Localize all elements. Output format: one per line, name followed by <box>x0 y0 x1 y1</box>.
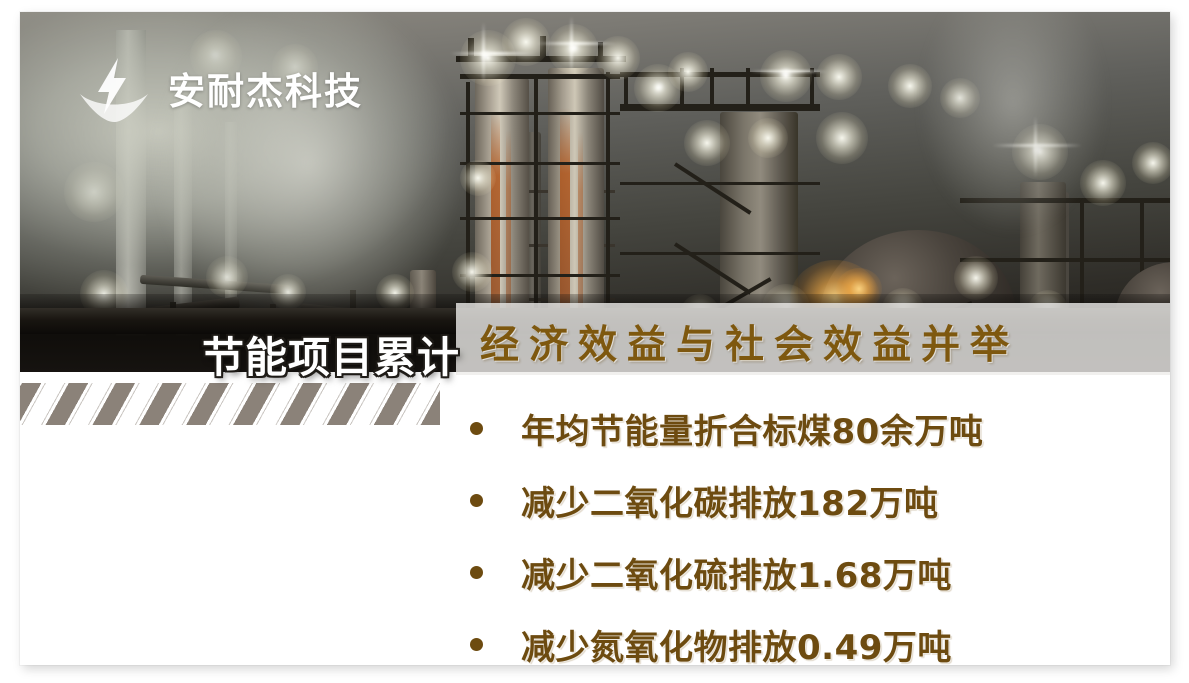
bullet-dot-icon <box>470 494 483 507</box>
bullet-text: 减少氮氧化物排放0.49万吨 <box>521 620 952 666</box>
headline-title: 经济效益与社会效益并举 <box>480 314 1170 370</box>
photo-plume-right <box>870 12 1130 282</box>
list-item: 年均节能量折合标煤80余万吨 <box>456 392 1170 464</box>
bullet-text: 减少二氧化碳排放182万吨 <box>521 476 938 525</box>
list-item: 减少氮氧化物排放0.49万吨 <box>456 608 1170 665</box>
list-item: 减少二氧化碳排放182万吨 <box>456 464 1170 536</box>
slide-canvas: 安耐杰科技 节能项目累计 经济效益与社会效益并举 年均节能量折合标煤80余万吨 … <box>20 12 1170 665</box>
brand-name: 安耐杰科技 <box>168 61 363 115</box>
bullet-dot-icon <box>470 566 483 579</box>
page-root: 安耐杰科技 节能项目累计 经济效益与社会效益并举 年均节能量折合标煤80余万吨 … <box>0 0 1189 683</box>
lightning-bolt-chevron-icon <box>78 52 150 124</box>
list-item: 减少二氧化硫排放1.68万吨 <box>456 536 1170 608</box>
bullet-dot-icon <box>470 638 483 651</box>
bullet-list: 年均节能量折合标煤80余万吨 减少二氧化碳排放182万吨 减少二氧化硫排放1.6… <box>456 392 1170 665</box>
bullet-text: 减少二氧化硫排放1.68万吨 <box>521 548 952 597</box>
bullet-text: 年均节能量折合标煤80余万吨 <box>521 404 983 453</box>
kicker-title: 节能项目累计 <box>202 324 460 385</box>
diagonal-stripes-ribbon <box>20 383 440 425</box>
brand-logo: 安耐杰科技 <box>78 52 363 124</box>
bullet-dot-icon <box>470 422 483 435</box>
